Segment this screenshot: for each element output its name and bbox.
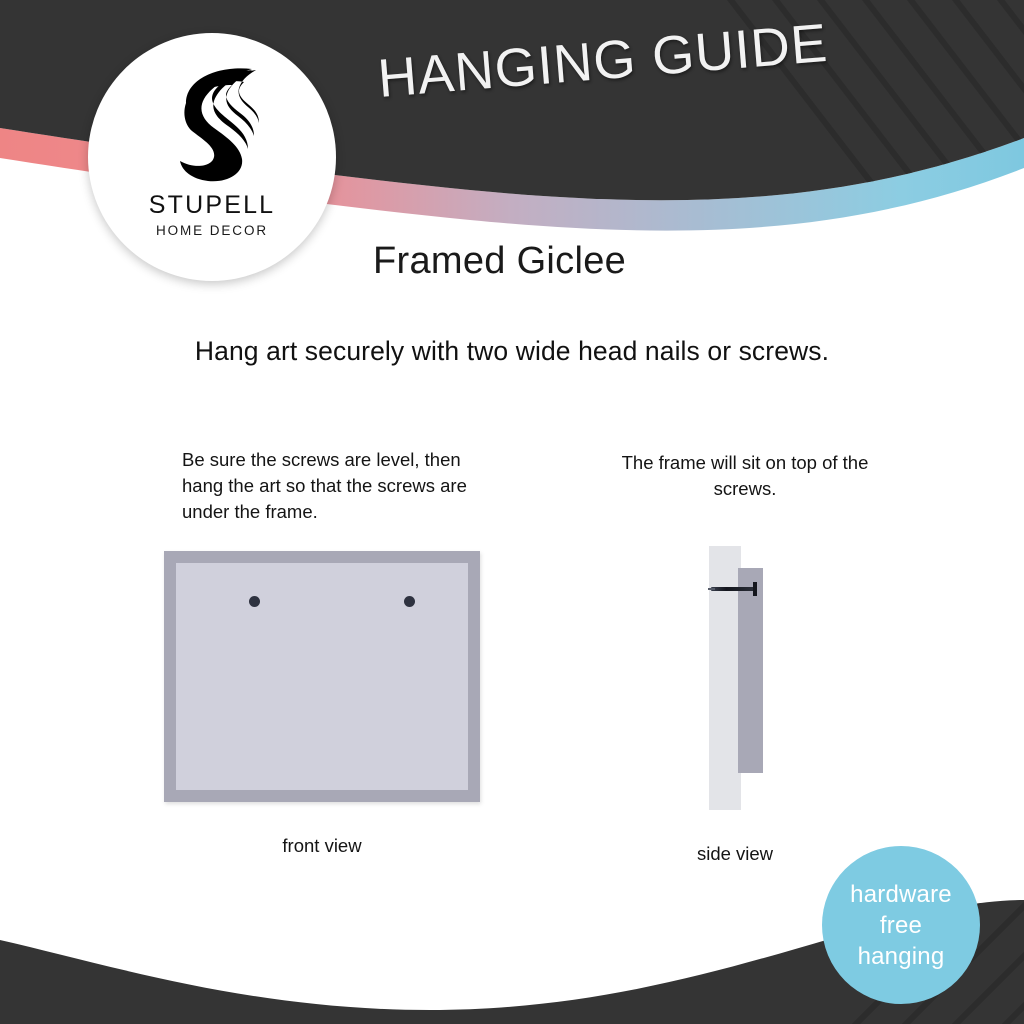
nail-tip-icon (708, 588, 715, 590)
side-view-diagram (700, 546, 810, 810)
front-view-diagram (164, 551, 480, 802)
hardware-free-hanging-badge: hardware free hanging (822, 846, 980, 1004)
wall-surface (709, 546, 741, 810)
nail-head-icon (753, 582, 757, 596)
nail-shaft-icon (711, 587, 755, 591)
frame-profile (738, 568, 763, 773)
front-view-caption: Be sure the screws are level, then hang … (182, 447, 482, 525)
stupell-logo-badge: STUPELL HOME DECOR (88, 33, 336, 281)
badge-line-1: hardware (850, 879, 952, 910)
side-view-label: side view (640, 843, 830, 865)
screw-dot-left (249, 596, 260, 607)
badge-line-3: hanging (858, 941, 945, 972)
badge-line-2: free (880, 910, 922, 941)
hanging-guide-page: STUPELL HOME DECOR HANGING GUIDE Framed … (0, 0, 1024, 1024)
front-view-art-area (176, 563, 468, 790)
stupell-s-swirl-icon (156, 63, 268, 185)
page-title: HANGING GUIDE (376, 12, 831, 110)
logo-subwordmark: HOME DECOR (156, 223, 268, 238)
main-instruction-text: Hang art securely with two wide head nai… (0, 336, 1024, 367)
front-view-label: front view (172, 835, 472, 857)
product-type-label: Framed Giclee (373, 240, 626, 283)
screw-dot-right (404, 596, 415, 607)
logo-wordmark: STUPELL (149, 191, 276, 220)
side-view-caption: The frame will sit on top of the screws. (600, 450, 890, 502)
